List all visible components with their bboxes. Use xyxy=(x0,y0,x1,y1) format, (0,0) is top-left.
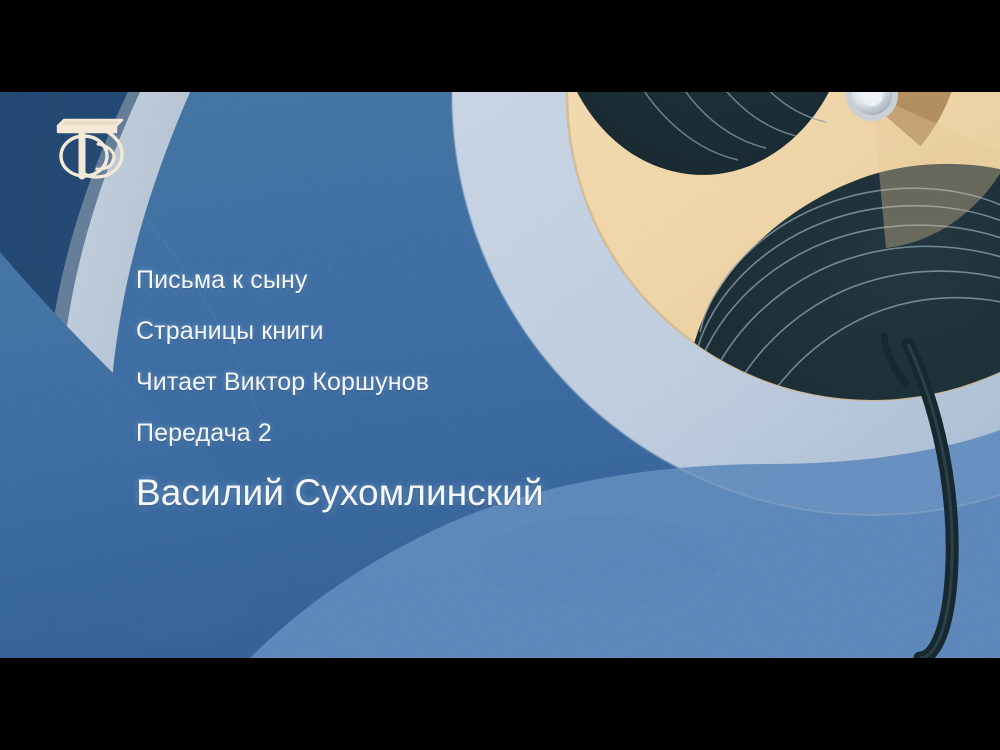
performer-line: Читает Виктор Коршунов xyxy=(136,357,776,408)
title-card: Письма к сыну Страницы книги Читает Викт… xyxy=(0,0,1000,750)
subtitle-line: Страницы книги xyxy=(136,306,776,357)
author-line: Василий Сухомлинский xyxy=(136,465,776,521)
letterbox-top xyxy=(0,0,1000,92)
episode-line: Передача 2 xyxy=(136,408,776,459)
gosteleradiofond-logo xyxy=(50,110,134,184)
text-block: Письма к сыну Страницы книги Читает Викт… xyxy=(136,255,776,521)
letterbox-bottom xyxy=(0,658,1000,750)
logo-monogram-icon xyxy=(50,110,134,184)
title-line: Письма к сыну xyxy=(136,255,776,306)
